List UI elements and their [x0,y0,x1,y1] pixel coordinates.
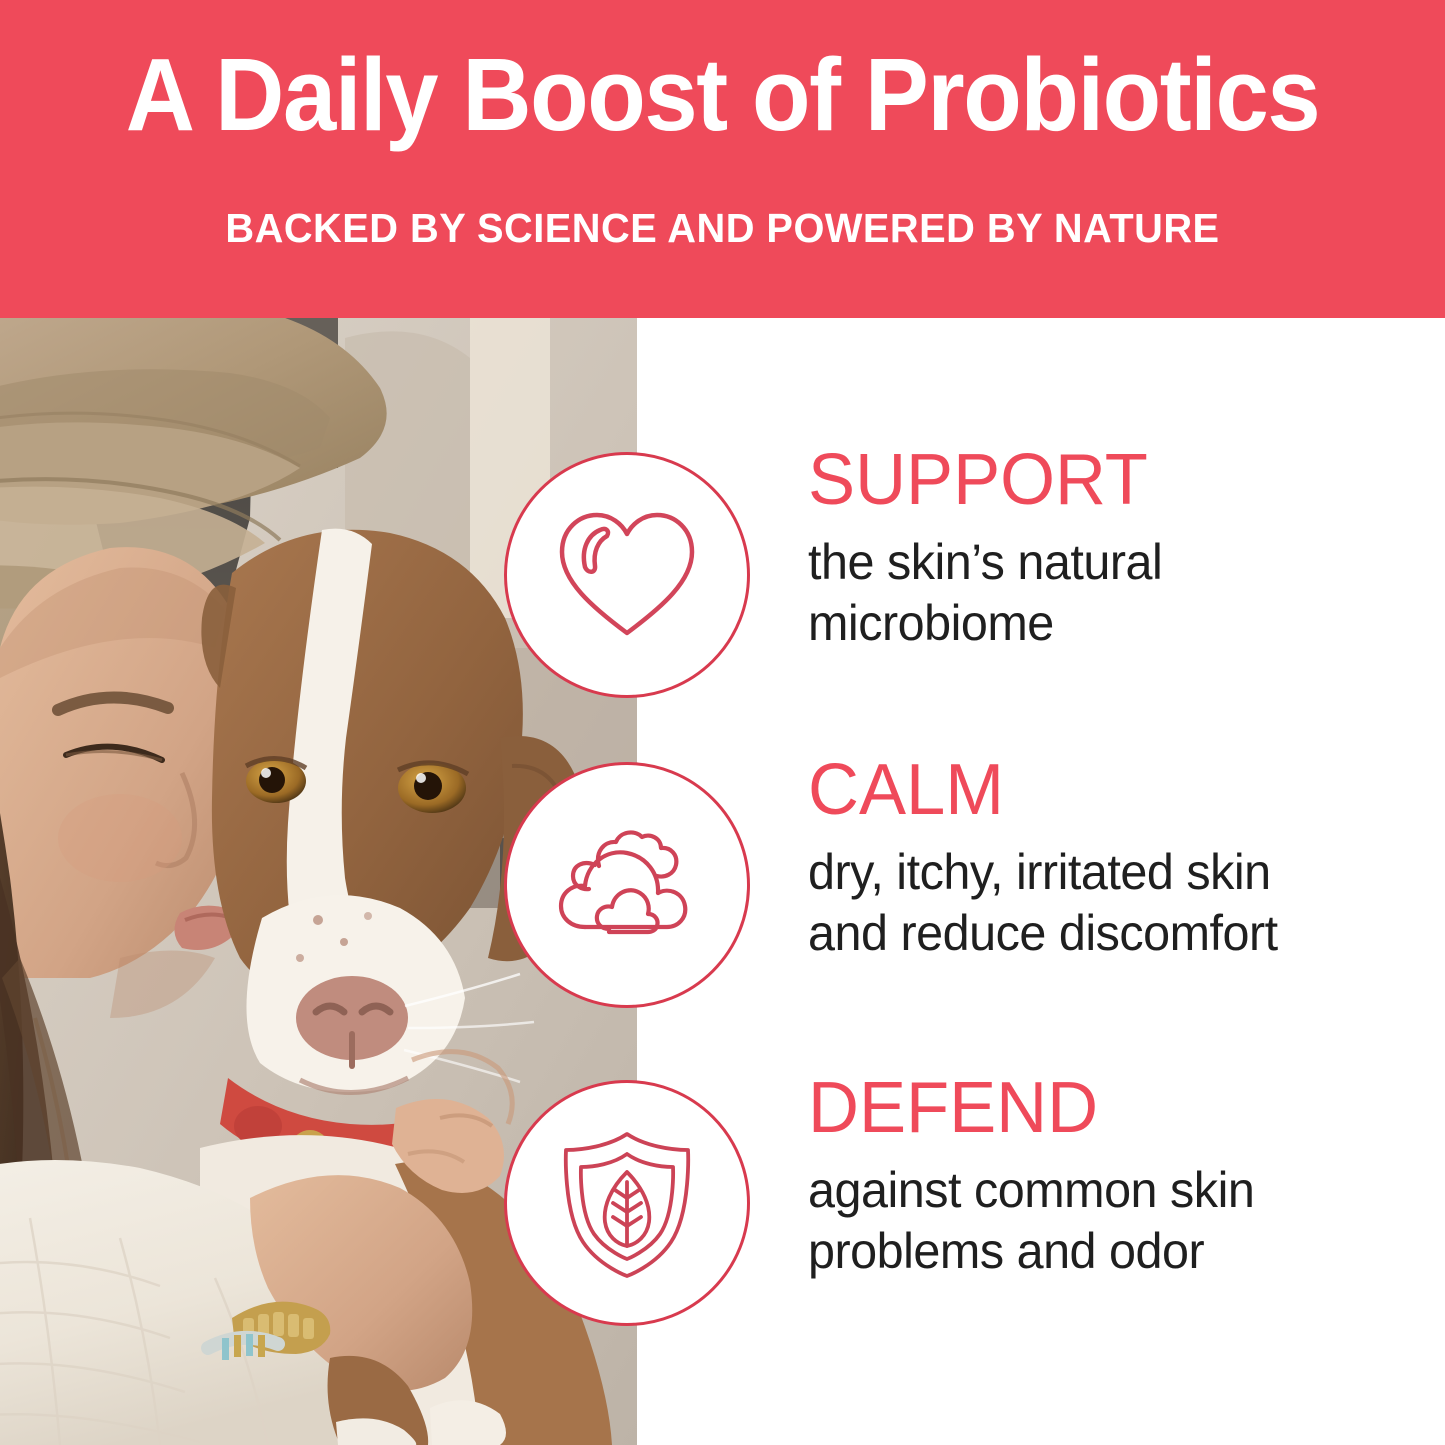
marketing-graphic: A Daily Boost of Probiotics BACKED BY SC… [0,0,1445,1445]
feature-title-calm: CALM [808,754,1421,826]
cloud-icon-glyph [551,819,703,951]
feature-item-calm: CALM dry, itchy, irritated skin and redu… [637,762,1445,1008]
feature-title-defend: DEFEND [808,1072,1421,1144]
feature-text-defend: DEFEND against common skin problems and … [808,1072,1433,1282]
cloud-icon [504,762,750,1008]
feature-list: SUPPORT the skin’s natural microbiome [637,318,1445,1445]
feature-desc-support: the skin’s natural microbiome [808,532,1414,654]
feature-text-calm: CALM dry, itchy, irritated skin and redu… [808,754,1433,964]
feature-desc-defend: against common skin problems and odor [808,1160,1414,1282]
feature-desc-calm: dry, itchy, irritated skin and reduce di… [808,842,1414,964]
page-subtitle: BACKED BY SCIENCE AND POWERED BY NATURE [22,205,1424,252]
shield-leaf-icon-glyph [553,1126,701,1280]
header-banner: A Daily Boost of Probiotics BACKED BY SC… [0,0,1445,318]
heart-icon [504,452,750,698]
feature-title-support: SUPPORT [808,444,1421,516]
feature-text-support: SUPPORT the skin’s natural microbiome [808,444,1433,654]
feature-item-support: SUPPORT the skin’s natural microbiome [637,452,1445,698]
page-title: A Daily Boost of Probiotics [51,42,1395,147]
shield-leaf-icon [504,1080,750,1326]
feature-item-defend: DEFEND against common skin problems and … [637,1080,1445,1326]
heart-icon-glyph [552,505,702,645]
